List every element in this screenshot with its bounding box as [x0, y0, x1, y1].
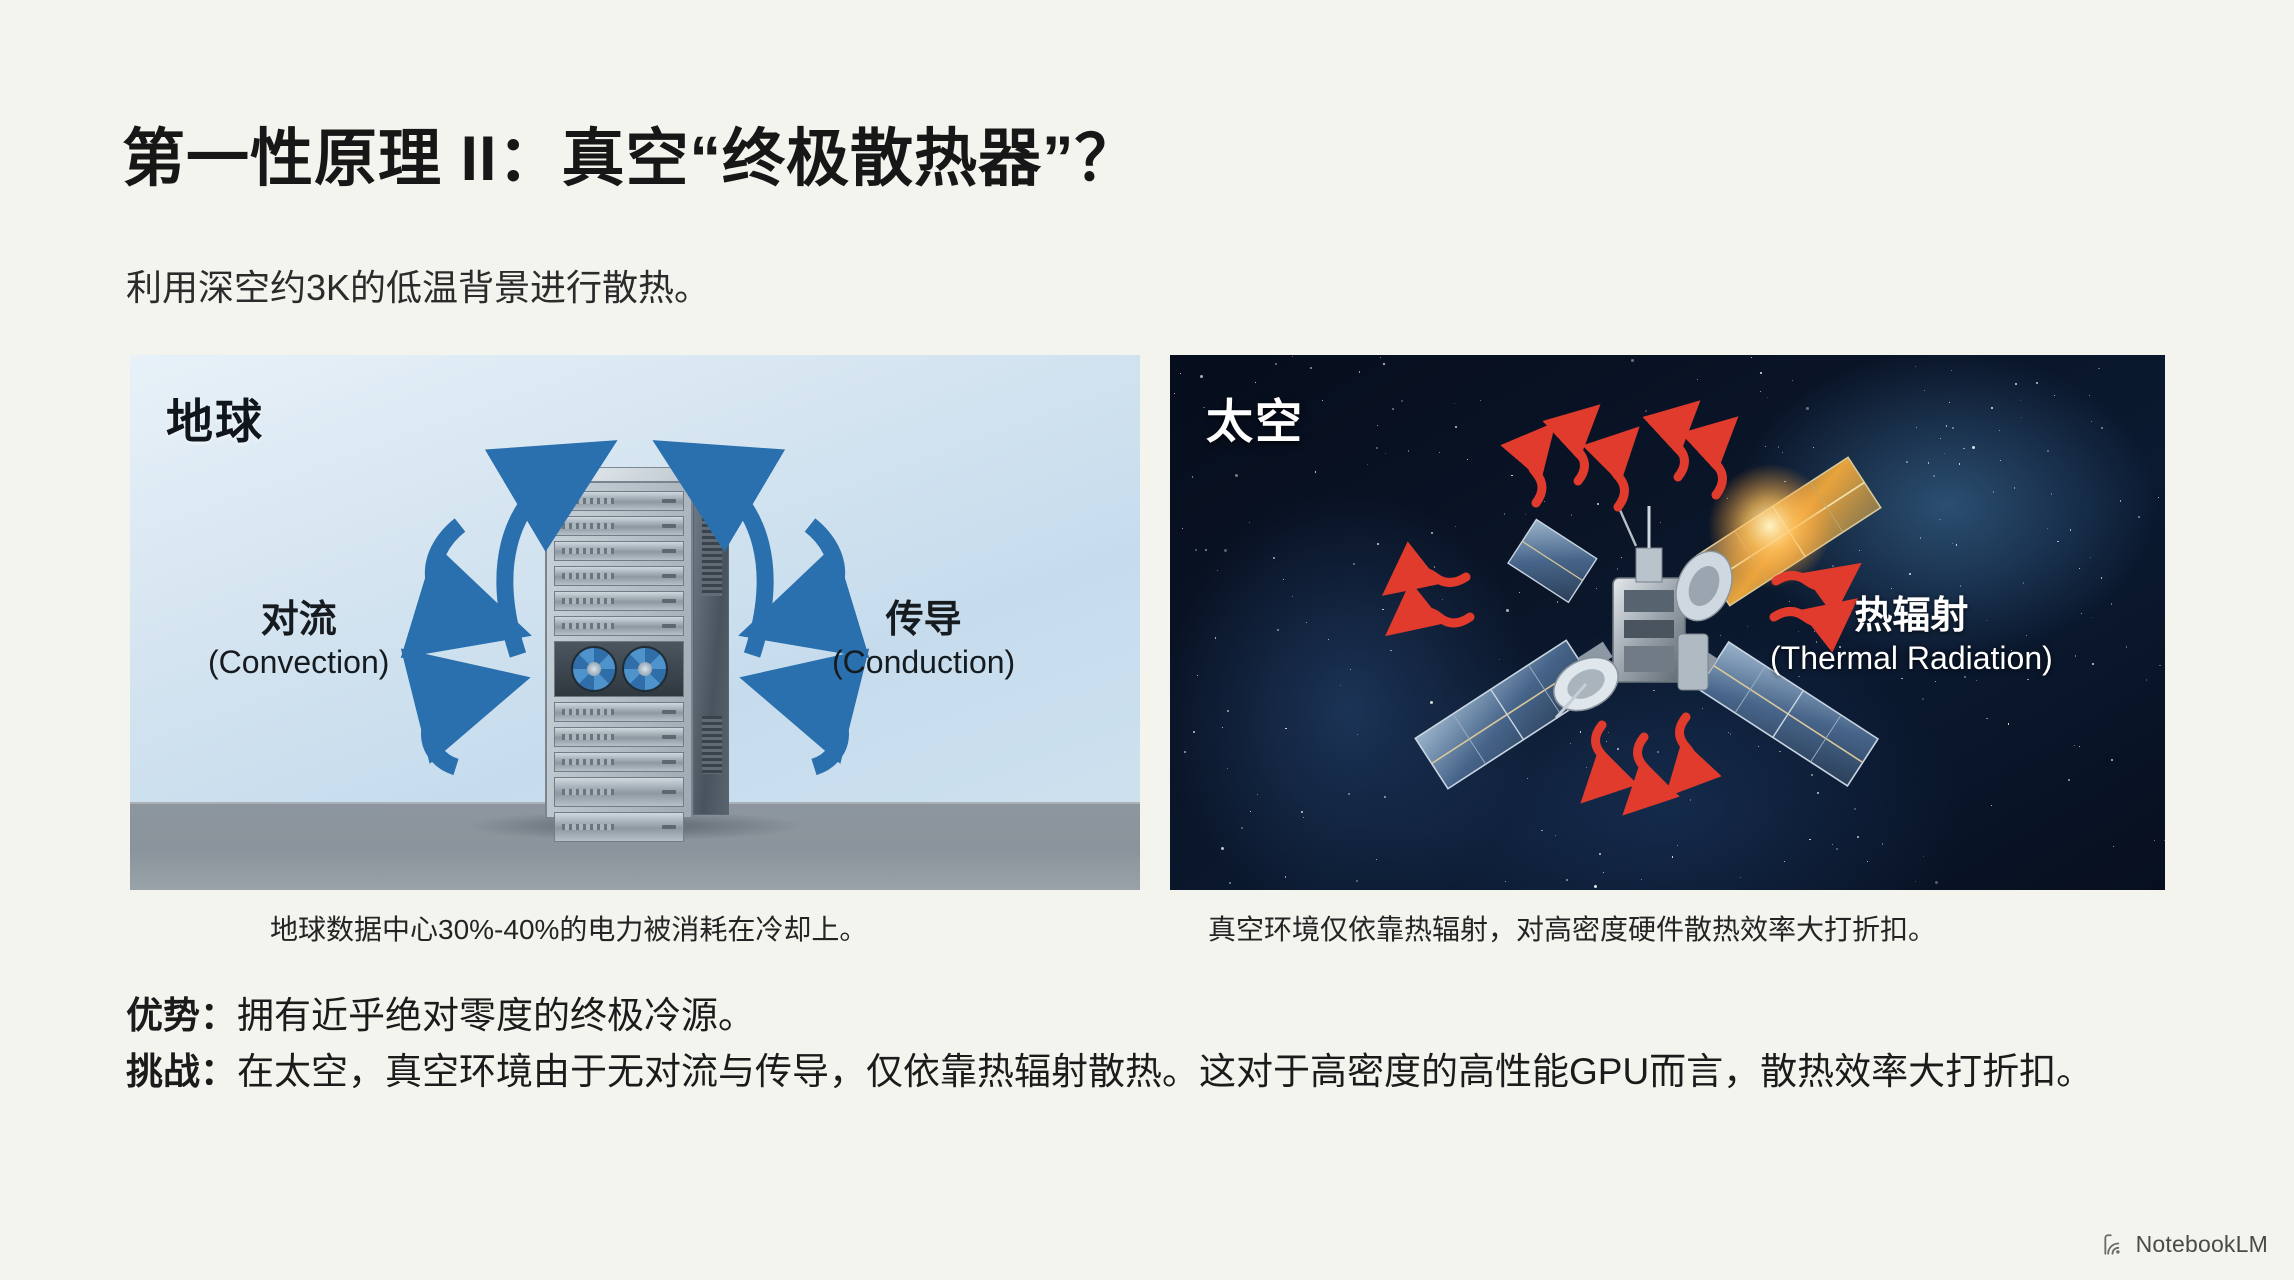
label-radiation-en: (Thermal Radiation)	[1770, 639, 2053, 678]
label-thermal-radiation: 热辐射 (Thermal Radiation)	[1770, 593, 2053, 678]
challenge-text: 在太空，真空环境由于无对流与传导，仅依靠热辐射散热。这对于高密度的高性能GPU而…	[237, 1051, 2093, 1092]
summary-text-block: 优势：拥有近乎绝对零度的终极冷源。 挑战：在太空，真空环境由于无对流与传导，仅依…	[126, 990, 2172, 1102]
label-radiation-cn: 热辐射	[1770, 593, 2053, 639]
label-convection-cn: 对流	[208, 597, 389, 643]
challenge-lead: 挑战：	[126, 1051, 237, 1092]
challenge-line: 挑战：在太空，真空环境由于无对流与传导，仅依靠热辐射散热。这对于高密度的高性能G…	[126, 1046, 2172, 1098]
caption-space: 真空环境仅依靠热辐射，对高密度硬件散热效率大打折扣。	[1208, 908, 1936, 948]
label-convection: 对流 (Convection)	[208, 597, 389, 682]
advantage-lead: 优势：	[126, 995, 237, 1036]
comparison-panels: 地球 对流 (Convection) 传导 (Conduction)	[130, 355, 2165, 890]
page-subtitle: 利用深空约3K的低温背景进行散热。	[126, 259, 710, 311]
panel-earth-label: 地球	[166, 383, 264, 452]
label-convection-en: (Convection)	[208, 643, 389, 682]
panel-space: 太空 热辐射 (Thermal Radiation)	[1170, 355, 2165, 890]
panel-space-label: 太空	[1206, 383, 1304, 452]
label-conduction-cn: 传导	[832, 597, 1015, 643]
label-conduction-en: (Conduction)	[832, 643, 1015, 682]
page-title: 第一性原理 II：真空“终极散热器”？	[122, 108, 1139, 199]
panel-earth: 地球 对流 (Convection) 传导 (Conduction)	[130, 355, 1140, 890]
notebooklm-footer: NotebookLM	[2101, 1231, 2268, 1258]
advantage-text: 拥有近乎绝对零度的终极冷源。	[237, 995, 755, 1036]
notebooklm-label: NotebookLM	[2136, 1231, 2268, 1258]
slide-canvas: 第一性原理 II：真空“终极散热器”？ 利用深空约3K的低温背景进行散热。	[0, 0, 2294, 1280]
advantage-line: 优势：拥有近乎绝对零度的终极冷源。	[126, 990, 2172, 1042]
notebooklm-spiral-icon	[2101, 1232, 2127, 1258]
label-conduction: 传导 (Conduction)	[832, 597, 1015, 682]
caption-earth: 地球数据中心30%-40%的电力被消耗在冷却上。	[270, 908, 867, 948]
